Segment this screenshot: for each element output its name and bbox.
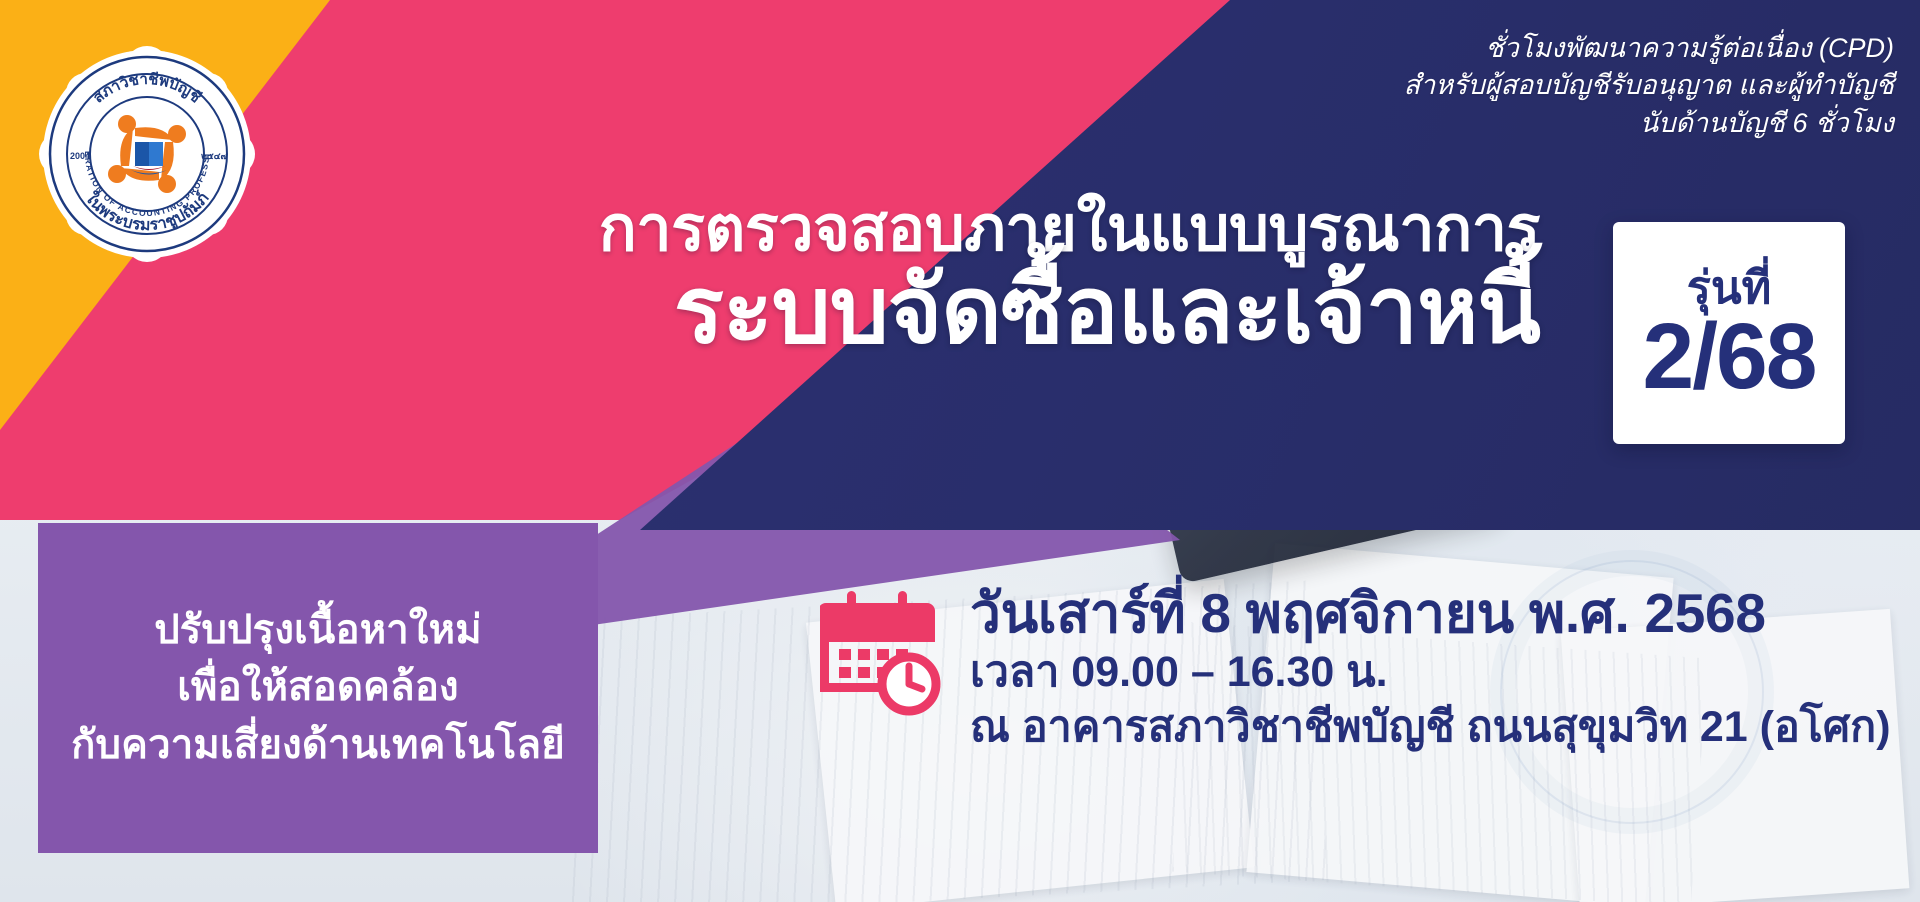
- highlight-line-2: เพื่อให้สอดคล้อง: [177, 661, 459, 714]
- organization-logo: สภาวิชาชีพบัญชี FEDERATION OF ACCOUNTING…: [35, 42, 259, 266]
- headline-line-1: การตรวจสอบภายในแบบบูรณาการ: [530, 196, 1540, 262]
- federation-of-accounting-professions-seal-icon: สภาวิชาชีพบัญชี FEDERATION OF ACCOUNTING…: [35, 42, 259, 266]
- cpd-line-3: นับด้านบัญชี 6 ชั่วโมง: [1404, 105, 1894, 142]
- seminar-banner: สภาวิชาชีพบัญชี FEDERATION OF ACCOUNTING…: [0, 0, 1920, 902]
- event-date: วันเสาร์ที่ 8 พฤศจิกายน พ.ศ. 2568: [970, 583, 1891, 645]
- calendar-clock-icon: [820, 589, 950, 724]
- cpd-note: ชั่วโมงพัฒนาความรู้ต่อเนื่อง (CPD) สำหรั…: [1404, 30, 1894, 142]
- headline-line-2: ระบบจัดซื้อและเจ้าหนี้: [530, 258, 1540, 362]
- svg-text:2004: 2004: [70, 151, 90, 161]
- event-time: เวลา 09.00 – 16.30 น.: [970, 645, 1891, 701]
- highlight-box: ปรับปรุงเนื้อหาใหม่ เพื่อให้สอดคล้อง กับ…: [38, 523, 598, 853]
- batch-badge: รุ่นที่ 2/68: [1613, 222, 1845, 444]
- headline: การตรวจสอบภายในแบบบูรณาการ ระบบจัดซื้อแล…: [530, 196, 1540, 362]
- event-details: วันเสาร์ที่ 8 พฤศจิกายน พ.ศ. 2568 เวลา 0…: [800, 583, 1891, 756]
- batch-badge-number: 2/68: [1642, 312, 1815, 401]
- svg-text:๒๕๔๗: ๒๕๔๗: [201, 151, 228, 161]
- highlight-line-3: กับความเสี่ยงด้านเทคโนโลยี: [71, 719, 565, 772]
- highlight-line-1: ปรับปรุงเนื้อหาใหม่: [154, 604, 482, 657]
- calendar-clock-icon-wrap: [800, 583, 970, 724]
- event-venue: ณ อาคารสภาวิชาชีพบัญชี ถนนสุขุมวิท 21 (อ…: [970, 700, 1891, 756]
- cpd-line-2: สำหรับผู้สอบบัญชีรับอนุญาต และผู้ทำบัญชี: [1404, 67, 1894, 104]
- cpd-line-1: ชั่วโมงพัฒนาความรู้ต่อเนื่อง (CPD): [1404, 30, 1894, 67]
